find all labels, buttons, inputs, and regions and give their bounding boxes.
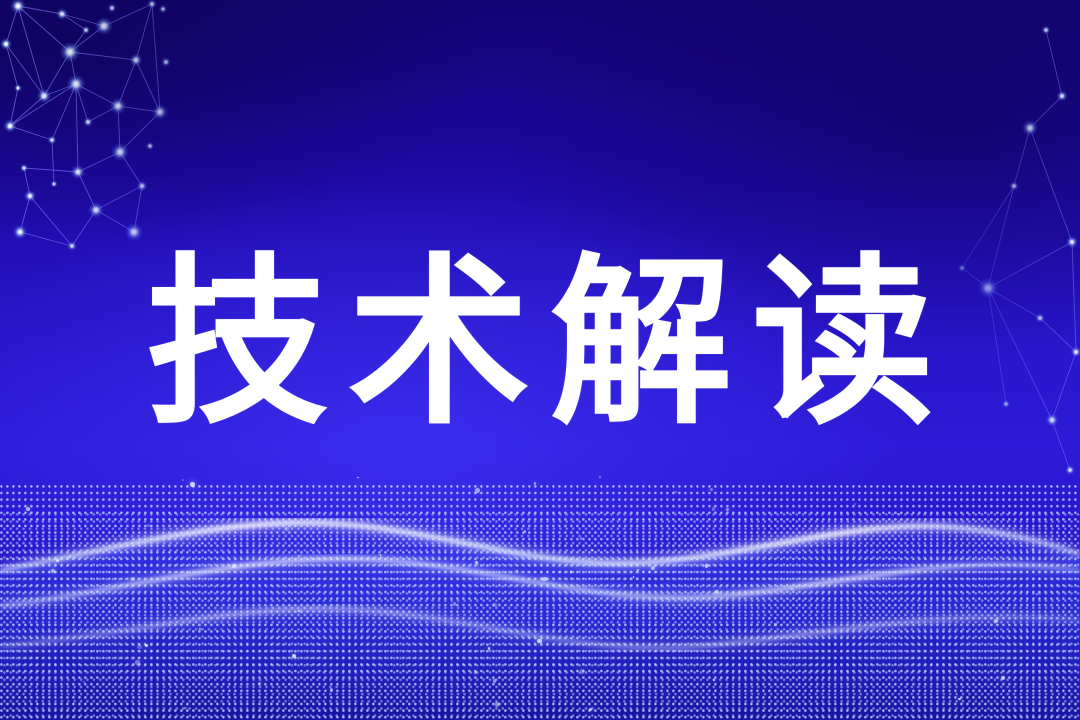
network-edge	[6, 44, 44, 96]
network-node	[17, 87, 19, 89]
network-node	[111, 7, 113, 9]
network-node	[149, 145, 151, 147]
network-node	[77, 171, 80, 174]
network-edge	[52, 140, 54, 184]
network-node	[141, 185, 143, 187]
network-node	[102, 24, 106, 28]
network-edge	[962, 186, 1014, 268]
network-node	[1039, 317, 1041, 319]
network-edge	[1040, 318, 1076, 352]
network-node	[51, 139, 53, 141]
network-node	[16, 4, 19, 7]
wave-ridge-halo	[0, 523, 1080, 570]
network-edge	[18, 6, 44, 96]
network-node	[1075, 351, 1077, 353]
network-node	[118, 150, 122, 154]
network-node	[53, 183, 55, 185]
network-node	[71, 245, 73, 247]
network-node	[61, 13, 63, 15]
network-node	[94, 208, 97, 211]
wave-ridge-core	[0, 609, 1080, 648]
network-node	[9, 125, 12, 128]
network-node	[5, 43, 7, 45]
network-node	[85, 29, 87, 31]
network-node	[74, 82, 78, 86]
network-edge	[30, 196, 72, 246]
network-node	[132, 230, 136, 234]
network-edge	[988, 242, 1072, 288]
network-node	[116, 104, 119, 107]
network-node	[68, 50, 72, 54]
network-node	[151, 3, 153, 5]
network-node	[1005, 403, 1007, 405]
network-node	[1013, 185, 1015, 187]
network-edge	[6, 44, 18, 88]
network-mesh-left	[0, 0, 171, 251]
network-node	[29, 195, 31, 197]
network-edge	[1072, 242, 1076, 352]
network-edge	[1052, 352, 1076, 420]
poster-canvas: 技术解读	[0, 0, 1080, 720]
network-node	[961, 267, 963, 269]
network-node	[19, 231, 22, 234]
network-edge	[988, 186, 1014, 288]
network-edge	[136, 4, 152, 60]
network-node	[165, 61, 167, 63]
network-node	[162, 8, 164, 10]
network-node	[1045, 29, 1047, 31]
network-node	[43, 95, 46, 98]
network-edge	[20, 232, 72, 246]
network-edge	[76, 84, 78, 172]
network-node	[1071, 241, 1073, 243]
network-edge	[24, 168, 78, 172]
network-node	[1028, 126, 1031, 129]
network-node	[1061, 95, 1063, 97]
network-edge	[988, 288, 1052, 420]
network-mesh-right	[958, 25, 1080, 475]
network-node	[986, 286, 990, 290]
network-node	[135, 59, 138, 62]
network-edge	[1014, 128, 1030, 186]
wave-ridge-halo	[0, 609, 1080, 648]
network-edge	[1030, 128, 1072, 242]
network-node	[158, 110, 161, 113]
wave-glow-overlay	[0, 420, 1080, 720]
network-edge	[988, 288, 1006, 404]
network-edge	[152, 4, 160, 112]
network-node	[23, 167, 25, 169]
network-edge	[1046, 30, 1062, 96]
network-node	[87, 121, 89, 123]
